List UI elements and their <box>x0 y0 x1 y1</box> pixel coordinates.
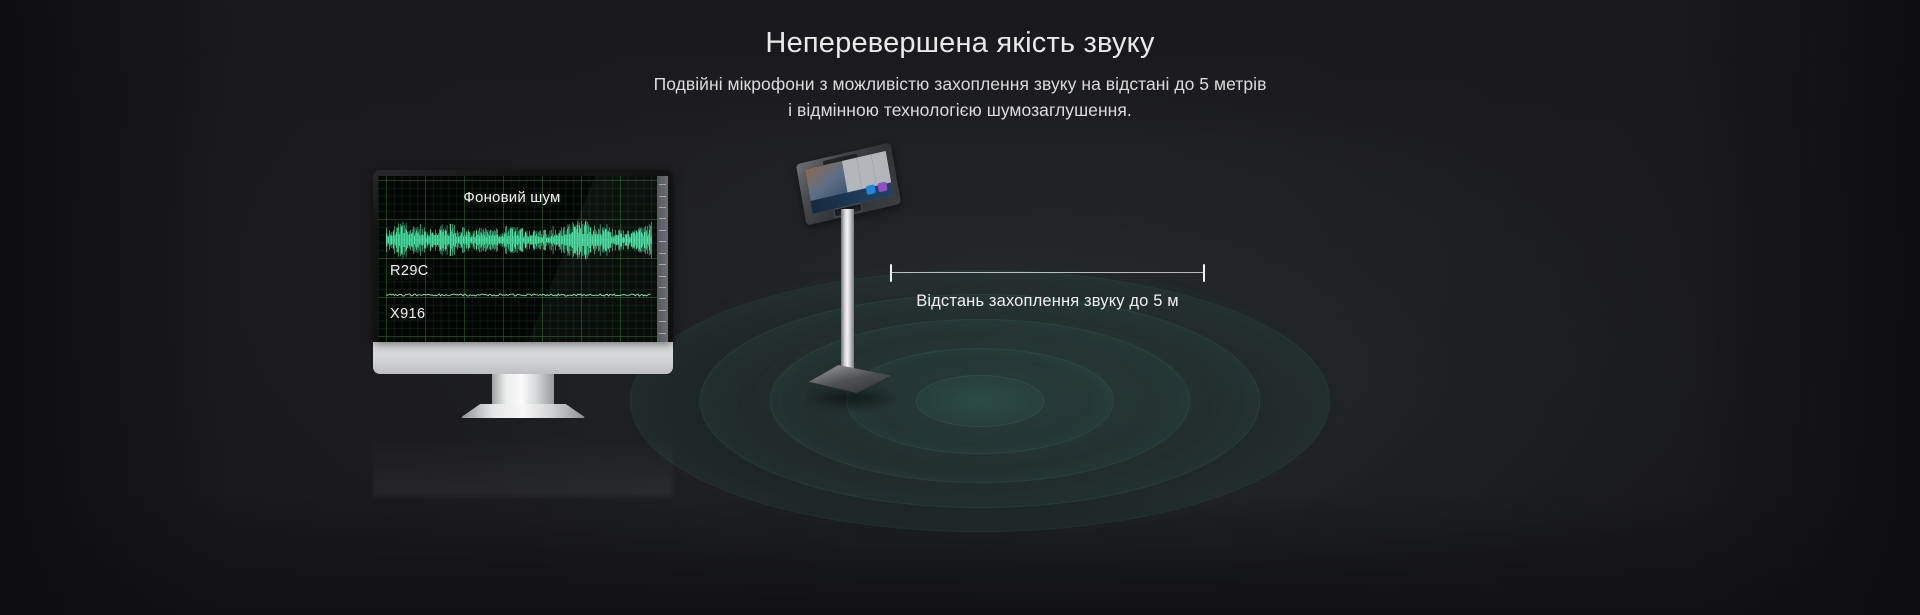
page-subtitle: Подвійні мікрофони з можливістю захоплен… <box>0 72 1920 123</box>
noise-waveform <box>386 216 652 264</box>
monitor-bezel: Фоновий шум R29C X916 <box>373 170 673 342</box>
monitor-screen: Фоновий шум R29C X916 <box>378 176 668 342</box>
ruler-tick <box>659 321 666 322</box>
ruler-tick <box>659 310 666 311</box>
measure-bar <box>890 272 1205 273</box>
ruler-tick <box>659 276 666 277</box>
ruler-tick <box>659 333 666 334</box>
ruler-tick <box>659 196 666 197</box>
page-title: Неперевершена якість звуку <box>0 26 1920 61</box>
ruler-tick <box>659 230 666 231</box>
ruler-tick <box>659 298 666 299</box>
measure-cap-left <box>890 264 892 282</box>
subtitle-line-1: Подвійні мікрофони з можливістю захоплен… <box>0 72 1920 98</box>
background-bottom-fade <box>0 495 1920 615</box>
ruler-tick <box>659 287 666 288</box>
heading-block: Неперевершена якість звуку Подвійні мікр… <box>0 26 1920 123</box>
ruler-tick <box>659 264 666 265</box>
ruler-tick <box>659 207 666 208</box>
screen-title: Фоновий шум <box>378 189 646 206</box>
monitor-stand-neck <box>492 374 554 404</box>
kiosk-terminal <box>795 153 905 403</box>
waveform-label-top: R29C <box>390 263 429 279</box>
desktop-monitor: Фоновий шум R29C X916 <box>373 170 673 418</box>
measure-line <box>890 264 1205 282</box>
distance-measure: Відстань захоплення звуку до 5 м <box>890 264 1205 311</box>
subtitle-line-2: і відмінною технологією шумозаглушення. <box>0 98 1920 124</box>
ruler-tick <box>659 253 666 254</box>
measure-cap-right <box>1203 264 1205 282</box>
suppressed-waveform <box>386 290 652 300</box>
monitor-stand-foot <box>460 404 586 418</box>
hero-banner: Неперевершена якість звуку Подвійні мікр… <box>0 0 1920 615</box>
ruler-tick <box>659 218 666 219</box>
screen-ruler <box>657 176 668 342</box>
ruler-tick <box>659 184 666 185</box>
kiosk-pole <box>841 209 854 372</box>
measure-label: Відстань захоплення звуку до 5 м <box>890 292 1205 311</box>
waveform-label-bottom: X916 <box>390 306 425 322</box>
monitor-chin <box>373 342 673 374</box>
ruler-tick <box>659 241 666 242</box>
